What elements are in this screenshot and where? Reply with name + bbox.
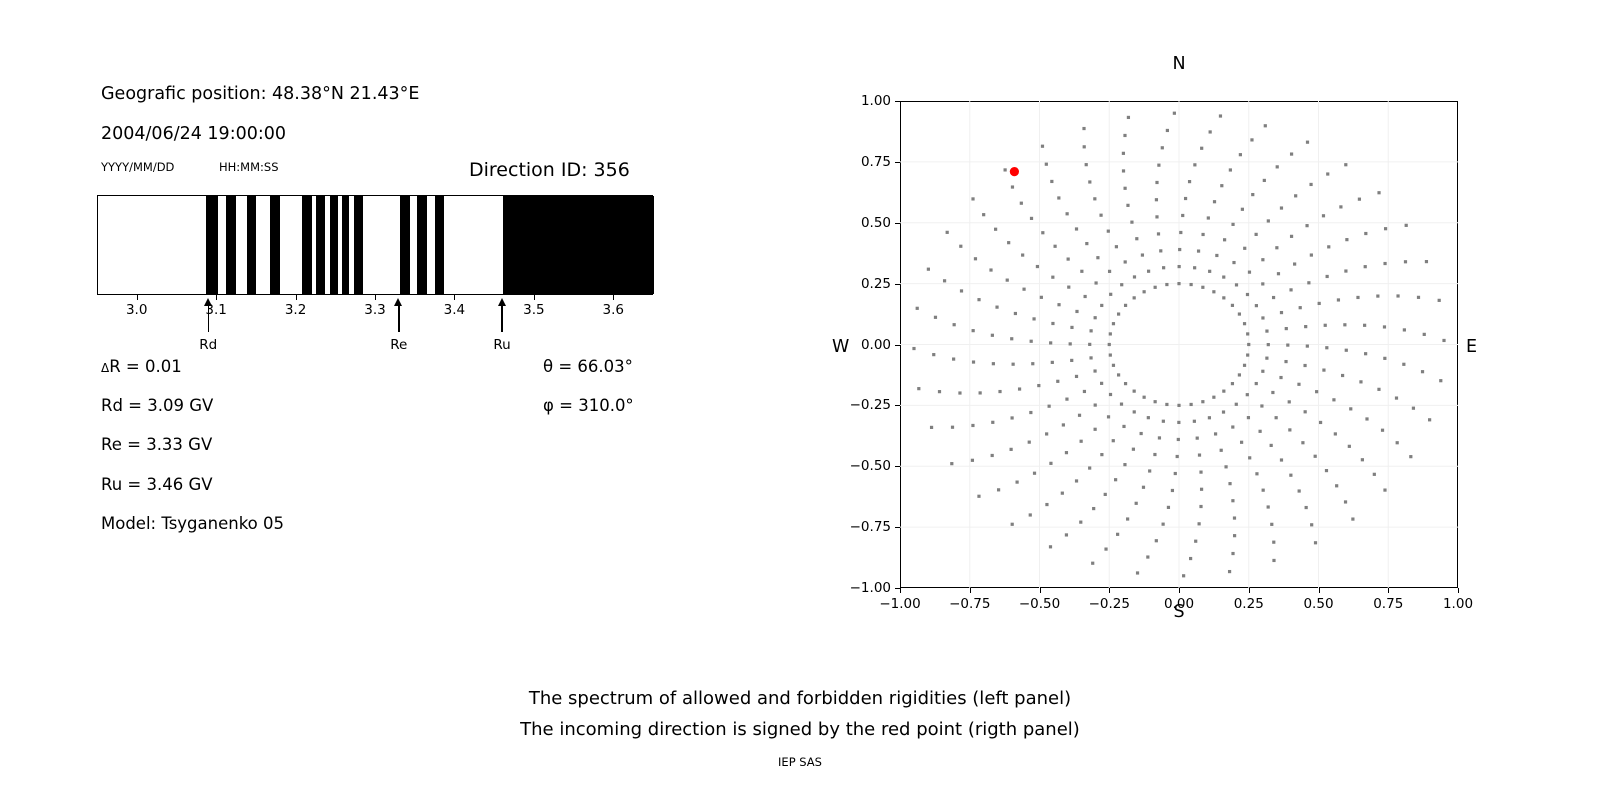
direction-point xyxy=(1088,343,1091,346)
direction-point xyxy=(1243,247,1246,250)
x-tick xyxy=(1179,588,1180,593)
direction-point xyxy=(1280,458,1283,461)
direction-point xyxy=(1174,472,1177,475)
forbidden-band xyxy=(435,196,445,294)
direction-point xyxy=(1067,257,1070,260)
direction-point xyxy=(1177,282,1180,285)
direction-id-text: Direction ID: 356 xyxy=(469,159,630,181)
direction-point xyxy=(1141,253,1144,256)
direction-point xyxy=(1201,233,1204,236)
direction-point xyxy=(1246,293,1249,296)
direction-point xyxy=(959,245,962,248)
direction-point xyxy=(1326,172,1329,175)
compass-label-north: N xyxy=(1172,54,1185,74)
direction-point xyxy=(1402,363,1405,366)
direction-scatter-points xyxy=(900,101,1458,588)
direction-point xyxy=(917,387,920,390)
forbidden-band xyxy=(354,196,364,294)
direction-point xyxy=(1270,444,1273,447)
direction-point xyxy=(1222,275,1225,278)
direction-point xyxy=(1201,286,1204,289)
direction-point xyxy=(1270,523,1273,526)
direction-point xyxy=(1404,260,1407,263)
direction-point xyxy=(989,268,992,271)
direction-point xyxy=(1109,353,1112,356)
direction-point xyxy=(1201,400,1204,403)
direction-point xyxy=(1198,522,1201,525)
direction-point xyxy=(1045,432,1048,435)
direction-point xyxy=(1123,187,1126,190)
direction-point xyxy=(1085,242,1088,245)
direction-point xyxy=(1162,523,1165,526)
direction-point xyxy=(1200,488,1203,491)
direction-point xyxy=(1133,296,1136,299)
direction-point xyxy=(1147,270,1150,273)
direction-point xyxy=(998,390,1001,393)
direction-point xyxy=(971,459,974,462)
direction-point xyxy=(1250,138,1253,141)
direction-point xyxy=(1344,500,1347,503)
direction-point xyxy=(958,391,961,394)
x-tick xyxy=(1040,588,1041,593)
direction-point xyxy=(1290,235,1293,238)
forbidden-band xyxy=(270,196,280,294)
direction-point xyxy=(1123,134,1126,137)
direction-point xyxy=(1356,296,1359,299)
direction-point xyxy=(1012,363,1015,366)
x-tick xyxy=(375,295,376,300)
direction-point xyxy=(994,228,997,231)
direction-point xyxy=(1100,382,1103,385)
direction-point xyxy=(1124,260,1127,263)
direction-point xyxy=(1222,296,1225,299)
direction-point xyxy=(1122,169,1125,172)
direction-point xyxy=(1364,352,1367,355)
direction-point xyxy=(1284,360,1287,363)
direction-point xyxy=(1351,517,1354,520)
direction-point xyxy=(1267,343,1270,346)
direction-point xyxy=(1293,262,1296,265)
direction-point xyxy=(1247,343,1250,346)
direction-point xyxy=(938,390,941,393)
direction-point xyxy=(1190,283,1193,286)
direction-point xyxy=(1147,416,1150,419)
direction-point xyxy=(1112,364,1115,367)
direction-point xyxy=(1067,286,1070,289)
direction-point xyxy=(1344,269,1347,272)
direction-point xyxy=(1363,324,1366,327)
direction-point xyxy=(1070,359,1073,362)
direction-point xyxy=(1286,343,1289,346)
direction-point xyxy=(1162,266,1165,269)
x-tick-label: −1.00 xyxy=(879,596,920,612)
direction-point xyxy=(1084,295,1087,298)
direction-point xyxy=(1178,248,1181,251)
direction-point xyxy=(1403,328,1406,331)
direction-point xyxy=(1222,390,1225,393)
footer-credit: IEP SAS xyxy=(0,755,1600,769)
direction-point xyxy=(1104,493,1107,496)
direction-point xyxy=(1065,533,1068,536)
direction-point xyxy=(1261,316,1264,319)
direction-point xyxy=(1117,312,1120,315)
direction-point xyxy=(1190,403,1193,406)
direction-point xyxy=(1324,324,1327,327)
direction-point xyxy=(1272,296,1275,299)
direction-point xyxy=(1428,418,1431,421)
direction-point xyxy=(1306,344,1309,347)
direction-point xyxy=(1423,333,1426,336)
direction-point xyxy=(1322,214,1325,217)
direction-point xyxy=(1255,382,1258,385)
direction-point xyxy=(1442,339,1445,342)
direction-point xyxy=(1383,325,1386,328)
direction-point xyxy=(1229,168,1232,171)
y-tick-label: 1.00 xyxy=(861,93,891,109)
direction-point xyxy=(1015,481,1018,484)
direction-point xyxy=(1112,439,1115,442)
direction-point xyxy=(1045,503,1048,506)
direction-point xyxy=(1348,445,1351,448)
time-format-hint: HH:MM:SS xyxy=(219,160,279,174)
x-tick-label: 3.3 xyxy=(364,302,385,318)
y-tick xyxy=(895,345,900,346)
direction-point xyxy=(997,488,1000,491)
direction-point xyxy=(1136,571,1139,574)
direction-point xyxy=(1166,129,1169,132)
compass-label-east: E xyxy=(1466,337,1477,357)
direction-point xyxy=(1376,294,1379,297)
direction-point xyxy=(1165,403,1168,406)
direction-point xyxy=(1255,304,1258,307)
direction-point xyxy=(1335,484,1338,487)
direction-point xyxy=(1341,374,1344,377)
direction-point xyxy=(1088,466,1091,469)
direction-point xyxy=(1303,364,1306,367)
direction-point xyxy=(1108,343,1111,346)
direction-point xyxy=(1364,232,1367,235)
direction-point xyxy=(1036,265,1039,268)
x-tick xyxy=(970,588,971,593)
direction-point xyxy=(1040,296,1043,299)
direction-point xyxy=(1135,502,1138,505)
x-tick xyxy=(1319,588,1320,593)
direction-point xyxy=(1120,403,1123,406)
forbidden-band xyxy=(247,196,257,294)
direction-point xyxy=(1197,249,1200,252)
direction-point xyxy=(1246,393,1249,396)
direction-point xyxy=(1327,245,1330,248)
direction-point xyxy=(1065,398,1068,401)
x-tick xyxy=(454,295,455,300)
x-tick-label: 3.5 xyxy=(523,302,544,318)
model-name: Model: Tsyganenko 05 xyxy=(101,514,284,533)
direction-point xyxy=(1162,420,1165,423)
direction-point xyxy=(1297,383,1300,386)
direction-point xyxy=(1439,379,1442,382)
direction-point xyxy=(972,360,975,363)
direction-point xyxy=(1006,279,1009,282)
direction-point xyxy=(977,298,980,301)
highlighted-direction-point xyxy=(1010,167,1019,176)
direction-point xyxy=(934,316,937,319)
direction-point xyxy=(1233,534,1236,537)
x-tick xyxy=(1109,588,1110,593)
direction-point xyxy=(1231,425,1234,428)
direction-point xyxy=(1305,224,1308,227)
direction-point xyxy=(1094,403,1097,406)
direction-point xyxy=(1142,486,1145,489)
direction-point xyxy=(1182,574,1185,577)
direction-point xyxy=(1209,130,1212,133)
direction-point xyxy=(1051,361,1054,364)
direction-point xyxy=(1246,332,1249,335)
x-tick xyxy=(1458,588,1459,593)
direction-point xyxy=(1062,423,1065,426)
direction-point xyxy=(1212,396,1215,399)
direction-point xyxy=(1248,456,1251,459)
direction-point xyxy=(1029,513,1032,516)
direction-point xyxy=(1223,238,1226,241)
direction-point xyxy=(1318,302,1321,305)
direction-point xyxy=(1345,238,1348,241)
direction-point xyxy=(991,454,994,457)
direction-point xyxy=(1165,283,1168,286)
direction-point xyxy=(1107,415,1110,418)
direction-point xyxy=(1425,260,1428,263)
direction-point xyxy=(960,289,963,292)
direction-point xyxy=(1154,400,1157,403)
direction-point xyxy=(1345,349,1348,352)
direction-point xyxy=(1133,410,1136,413)
direction-point xyxy=(1159,249,1162,252)
direction-point xyxy=(1030,340,1033,343)
direction-point xyxy=(1235,403,1238,406)
direction-point xyxy=(1091,562,1094,565)
compass-label-west: W xyxy=(832,337,849,357)
direction-point xyxy=(1349,407,1352,410)
direction-point xyxy=(1421,370,1424,373)
direction-point xyxy=(1126,204,1129,207)
direction-point xyxy=(1018,387,1021,390)
direction-point xyxy=(1193,266,1196,269)
annotation-arrow-line xyxy=(501,305,502,332)
x-tick-label: 0.00 xyxy=(1164,596,1194,612)
delta-symbol: Δ xyxy=(101,361,109,375)
direction-point xyxy=(1010,448,1013,451)
direction-point xyxy=(1339,205,1342,208)
y-tick xyxy=(895,527,900,528)
direction-point xyxy=(953,323,956,326)
spectrum-plot-area xyxy=(97,195,653,295)
direction-point xyxy=(1050,180,1053,183)
x-tick-label: 3.6 xyxy=(603,302,624,318)
direction-point xyxy=(1031,362,1034,365)
direction-point xyxy=(1132,448,1135,451)
direction-point xyxy=(1148,469,1151,472)
direction-point xyxy=(1208,270,1211,273)
direction-point xyxy=(943,279,946,282)
x-tick-label: 0.50 xyxy=(1303,596,1333,612)
direction-point xyxy=(1107,230,1110,233)
direction-point xyxy=(1212,290,1215,293)
y-tick-label: 0.25 xyxy=(861,276,891,292)
direction-point xyxy=(1010,416,1013,419)
x-tick-label: 1.00 xyxy=(1443,596,1473,612)
direction-point xyxy=(1161,146,1164,149)
direction-point xyxy=(972,329,975,332)
direction-point xyxy=(982,213,985,216)
direction-point xyxy=(1080,270,1083,273)
geographic-position-text: Geografic position: 48.38°N 21.43°E xyxy=(101,84,419,104)
direction-point xyxy=(1123,463,1126,466)
direction-point xyxy=(1247,416,1250,419)
direction-point xyxy=(1396,441,1399,444)
direction-point xyxy=(1080,440,1083,443)
y-tick-label: 0.75 xyxy=(861,154,891,170)
direction-point xyxy=(1100,304,1103,307)
direction-point xyxy=(1124,382,1127,385)
x-tick xyxy=(1249,588,1250,593)
direction-point xyxy=(1233,516,1236,519)
direction-point xyxy=(1326,275,1329,278)
direction-point xyxy=(1078,414,1081,417)
y-tick-label: 0.00 xyxy=(861,337,891,353)
direction-point xyxy=(1092,507,1095,510)
direction-point xyxy=(1383,357,1386,360)
observation-datetime-text: 2004/06/24 19:00:00 xyxy=(101,124,286,144)
direction-point xyxy=(1093,369,1096,372)
direction-point xyxy=(1021,253,1024,256)
direction-point xyxy=(1083,145,1086,148)
direction-point xyxy=(1279,376,1282,379)
direction-point xyxy=(979,391,982,394)
direction-point xyxy=(1255,233,1258,236)
direction-point xyxy=(1377,388,1380,391)
direction-point xyxy=(1208,416,1211,419)
forbidden-band xyxy=(302,196,312,294)
y-tick xyxy=(895,466,900,467)
direction-point xyxy=(1096,256,1099,259)
rigidity-spectrum-panel: Geografic position: 48.38°N 21.43°E 2004… xyxy=(0,0,760,660)
direction-point xyxy=(1155,198,1158,201)
direction-point xyxy=(1310,523,1313,526)
direction-point xyxy=(1093,197,1096,200)
direction-point xyxy=(1228,482,1231,485)
x-tick xyxy=(296,295,297,300)
direction-point xyxy=(1231,499,1234,502)
direction-point xyxy=(1075,227,1078,230)
y-tick xyxy=(895,405,900,406)
direction-point xyxy=(1061,492,1064,495)
direction-point xyxy=(1075,310,1078,313)
direction-point xyxy=(1361,458,1364,461)
direction-point xyxy=(1412,407,1415,410)
direction-point xyxy=(1289,474,1292,477)
direction-point xyxy=(1228,570,1231,573)
direction-point xyxy=(1231,382,1234,385)
direction-point xyxy=(1298,489,1301,492)
y-tick-label: 0.50 xyxy=(861,215,891,231)
direction-point xyxy=(1177,404,1180,407)
annotation-arrow-head xyxy=(204,298,212,306)
direction-point xyxy=(1037,384,1040,387)
direction-point xyxy=(1045,163,1048,166)
direction-point xyxy=(1048,405,1051,408)
direction-point xyxy=(1189,557,1192,560)
direction-point xyxy=(1109,393,1112,396)
direction-point xyxy=(1261,258,1264,261)
direction-point xyxy=(1124,304,1127,307)
direction-point xyxy=(1358,198,1361,201)
direction-point xyxy=(1294,194,1297,197)
x-tick xyxy=(613,295,614,300)
y-tick xyxy=(895,101,900,102)
direction-point xyxy=(1417,296,1420,299)
annotation-arrow-line xyxy=(208,305,209,332)
direction-point xyxy=(1127,116,1130,119)
direction-point xyxy=(1304,410,1307,413)
forbidden-band xyxy=(417,196,427,294)
direction-point xyxy=(1181,214,1184,217)
direction-point xyxy=(1155,215,1158,218)
direction-point xyxy=(1207,216,1210,219)
direction-point xyxy=(1193,163,1196,166)
y-tick-label: −0.50 xyxy=(850,458,891,474)
direction-point xyxy=(1325,469,1328,472)
x-tick-label: −0.75 xyxy=(949,596,990,612)
direction-point xyxy=(1220,449,1223,452)
x-tick-label: 3.2 xyxy=(285,302,306,318)
direction-point xyxy=(1032,317,1035,320)
direction-point xyxy=(1004,168,1007,171)
direction-point xyxy=(1235,283,1238,286)
x-tick-label: 0.75 xyxy=(1373,596,1403,612)
direction-point xyxy=(1065,451,1068,454)
direction-point xyxy=(1057,303,1060,306)
direction-point xyxy=(1301,441,1304,444)
direction-point xyxy=(912,347,915,350)
direction-point xyxy=(1116,533,1119,536)
direction-point xyxy=(1405,224,1408,227)
direction-point xyxy=(1022,288,1025,291)
direction-point xyxy=(1157,164,1160,167)
annotation-arrow-head xyxy=(498,298,506,306)
direction-point xyxy=(1070,326,1073,329)
direction-point xyxy=(1332,398,1335,401)
direction-point xyxy=(1066,212,1069,215)
direction-point xyxy=(1171,489,1174,492)
direction-point xyxy=(1275,246,1278,249)
direction-point xyxy=(1240,441,1243,444)
direction-point xyxy=(932,353,935,356)
direction-point xyxy=(1315,390,1318,393)
direction-point xyxy=(1314,541,1317,544)
direction-point xyxy=(974,257,977,260)
direction-point xyxy=(1306,141,1309,144)
ru-value: Ru = 3.46 GV xyxy=(101,475,213,494)
direction-point xyxy=(1231,304,1234,307)
direction-point xyxy=(1167,506,1170,509)
x-tick-label: 3.0 xyxy=(126,302,147,318)
direction-point xyxy=(1239,153,1242,156)
direction-point xyxy=(1196,437,1199,440)
direction-map-panel: N S W E −1.00−0.75−0.50−0.250.000.250.50… xyxy=(900,101,1458,588)
direction-point xyxy=(1133,390,1136,393)
direction-point xyxy=(946,231,949,234)
direction-point xyxy=(1120,283,1123,286)
direction-point xyxy=(1280,311,1283,314)
